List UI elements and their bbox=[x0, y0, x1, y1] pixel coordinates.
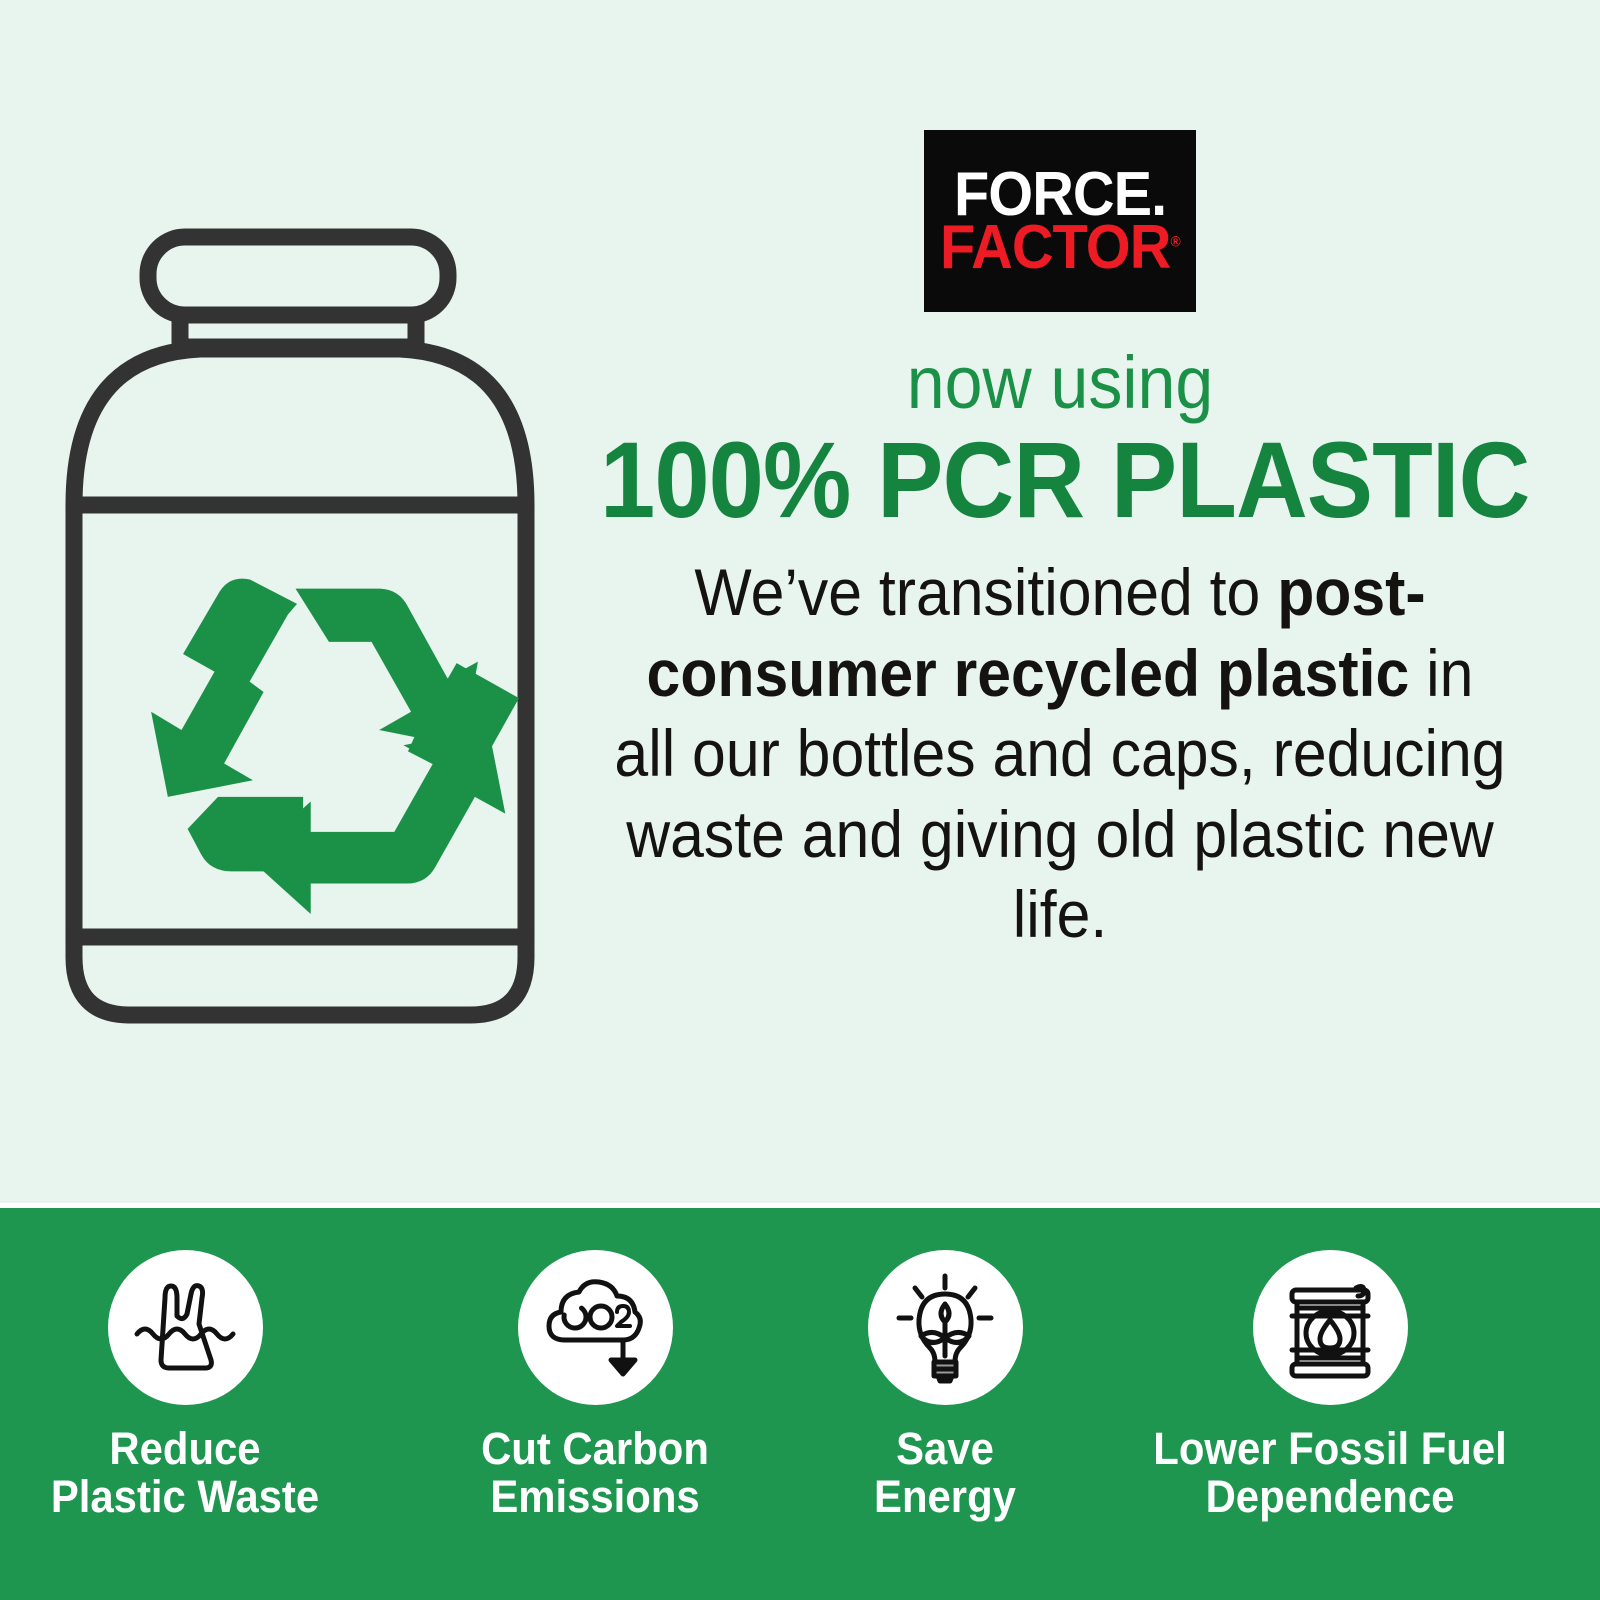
force-factor-logo: FORCE. FACTOR® bbox=[924, 130, 1196, 312]
headline-eyebrow: now using bbox=[600, 346, 1520, 420]
benefit-label: Reduce Plastic Waste bbox=[41, 1425, 329, 1520]
benefit-icon-circle bbox=[1253, 1250, 1408, 1405]
benefit-label: Save Energy bbox=[801, 1425, 1089, 1520]
page-title: 100% PCR PLASTIC bbox=[600, 426, 1520, 534]
logo-word-factor: FACTOR® bbox=[940, 221, 1180, 274]
benefits-banner: Reduce Plastic Waste Cut Carbon E bbox=[0, 1203, 1600, 1600]
benefit-icon-circle bbox=[108, 1250, 263, 1405]
benefit-icon-circle bbox=[518, 1250, 673, 1405]
co2-cloud-down-arrow-icon bbox=[535, 1268, 655, 1388]
product-bottle-illustration bbox=[60, 215, 540, 1065]
benefit-item-cut-carbon-emissions: Cut Carbon Emissions bbox=[440, 1250, 750, 1520]
registered-trademark-icon: ® bbox=[1171, 233, 1180, 250]
lightbulb-plant-icon bbox=[885, 1268, 1005, 1388]
body-paragraph: We’ve transitioned to post-consumer recy… bbox=[609, 552, 1511, 955]
copy-column: FORCE. FACTOR® now using 100% PCR PLASTI… bbox=[560, 130, 1560, 1021]
body-text-part1: We’ve transitioned to bbox=[694, 555, 1277, 629]
infographic-canvas: FORCE. FACTOR® now using 100% PCR PLASTI… bbox=[0, 0, 1600, 1600]
benefit-label: Lower Fossil Fuel Dependence bbox=[1125, 1425, 1534, 1520]
plastic-bag-in-water-icon bbox=[125, 1268, 245, 1388]
oil-barrel-drop-icon bbox=[1270, 1268, 1390, 1388]
bottle-svg bbox=[60, 215, 540, 1065]
benefit-label: Cut Carbon Emissions bbox=[451, 1425, 739, 1520]
benefit-icon-circle bbox=[868, 1250, 1023, 1405]
benefit-item-lower-fossil-fuel-dependence: Lower Fossil Fuel Dependence bbox=[1110, 1250, 1550, 1520]
benefit-item-reduce-plastic-waste: Reduce Plastic Waste bbox=[30, 1250, 340, 1520]
bottle-cap-icon bbox=[148, 237, 448, 315]
recycle-symbol-icon bbox=[151, 579, 519, 914]
logo-factor-text: FACTOR bbox=[940, 213, 1170, 282]
benefit-item-save-energy: Save Energy bbox=[790, 1250, 1100, 1520]
